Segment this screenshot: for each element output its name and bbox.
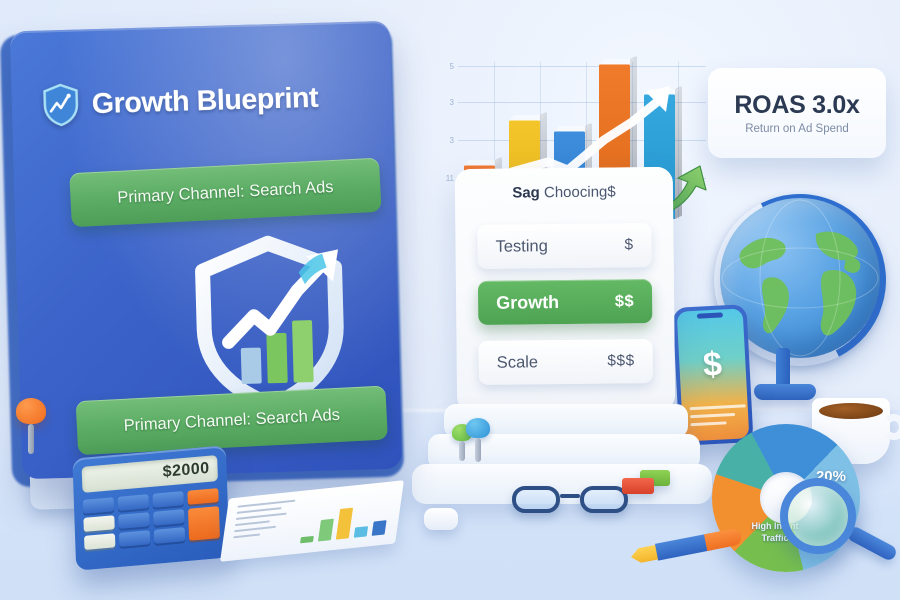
primary-channel-label: Primary Channel: Search Ads: [123, 405, 340, 435]
illustration-scene: 5 3 3 11 ROAS 3.0x Return on Ad Spend: [0, 0, 900, 600]
dollar-sign-icon: $: [702, 345, 723, 385]
tier-row[interactable]: Scale $$$: [479, 339, 653, 385]
paper-mini-bar: [318, 518, 334, 541]
phone-notch: [697, 312, 723, 318]
paper-mini-chart: [300, 504, 389, 544]
magnifier-lens: [780, 478, 856, 554]
tier-cost: $: [624, 236, 633, 254]
calculator-key-equals[interactable]: [188, 506, 220, 541]
roas-card[interactable]: ROAS 3.0x Return on Ad Spend: [708, 68, 886, 158]
paper-mini-bar: [354, 526, 368, 538]
figure-blue: [466, 418, 490, 462]
eyeglasses-icon: [512, 486, 628, 516]
board-header: Growth Blueprint: [41, 71, 372, 130]
glasses-bridge: [560, 494, 580, 498]
budget-tier-card[interactable]: Sag Choocing$ Testing $ Growth $$ Scale …: [455, 167, 676, 413]
calculator-key[interactable]: [153, 509, 184, 526]
tier-row[interactable]: Testing $: [477, 223, 651, 269]
roas-value: ROAS 3.0x: [734, 91, 859, 120]
tier-cost: $$$: [607, 352, 635, 370]
y-tick-label: 3: [436, 136, 454, 145]
block-red: [622, 478, 654, 494]
cup-handle: [882, 414, 900, 440]
primary-channel-label: Primary Channel: Search Ads: [117, 177, 334, 207]
glasses-lens-left: [512, 486, 560, 513]
paper-mini-bar: [372, 520, 387, 536]
pushpin-stem: [28, 424, 34, 454]
shield-growth-icon: [41, 82, 80, 127]
calculator[interactable]: $2000: [72, 445, 229, 571]
calculator-value: $2000: [162, 460, 209, 482]
glasses-lens-right: [580, 486, 628, 513]
magnifier-handle: [846, 525, 899, 563]
magnifying-glass-icon: [780, 478, 900, 574]
pushpin-icon: [16, 398, 46, 454]
tier-name: Testing: [495, 237, 547, 257]
globe-base: [754, 384, 816, 400]
calculator-key-accent[interactable]: [187, 488, 218, 505]
paper-mini-bar: [336, 508, 353, 540]
coffee-liquid: [819, 403, 883, 419]
roas-subtitle: Return on Ad Spend: [745, 123, 849, 135]
tier-card-header: Sag Choocing$: [455, 183, 673, 202]
growth-blueprint-board: Growth Blueprint Primary Channel: Search…: [10, 21, 402, 479]
figure-head: [466, 418, 490, 438]
tier-name: Growth: [496, 292, 559, 314]
tier-header-bold: Sag: [512, 184, 540, 201]
eraser-icon: [424, 508, 458, 530]
calculator-key[interactable]: [153, 491, 184, 508]
tier-cost: $$: [615, 292, 635, 311]
primary-channel-band: Primary Channel: Search Ads: [76, 386, 388, 456]
y-tick-label: 11: [436, 174, 454, 183]
paper-text-lines: [233, 500, 295, 539]
page-title: Growth Blueprint: [91, 81, 318, 120]
calculator-key[interactable]: [118, 494, 149, 511]
calculator-key[interactable]: [154, 527, 185, 544]
calculator-keypad[interactable]: [83, 488, 220, 550]
calculator-key[interactable]: [84, 533, 115, 550]
figure-body: [475, 438, 481, 462]
figure-body: [459, 441, 465, 461]
calculator-key[interactable]: [83, 515, 114, 532]
y-tick-label: 3: [436, 98, 454, 107]
calculator-display: $2000: [82, 455, 218, 493]
primary-channel-band: Primary Channel: Search Ads: [69, 158, 381, 228]
tier-header-rest: Choocing$: [540, 183, 616, 201]
y-tick-label: 5: [436, 62, 454, 71]
tier-name: Scale: [497, 353, 538, 372]
tier-row[interactable]: Growth $$: [478, 279, 652, 325]
paper-mini-bar: [300, 536, 314, 543]
pushpin-head: [16, 398, 46, 424]
calculator-key[interactable]: [119, 530, 150, 547]
calculator-key[interactable]: [83, 497, 114, 514]
calculator-key[interactable]: [118, 512, 149, 529]
